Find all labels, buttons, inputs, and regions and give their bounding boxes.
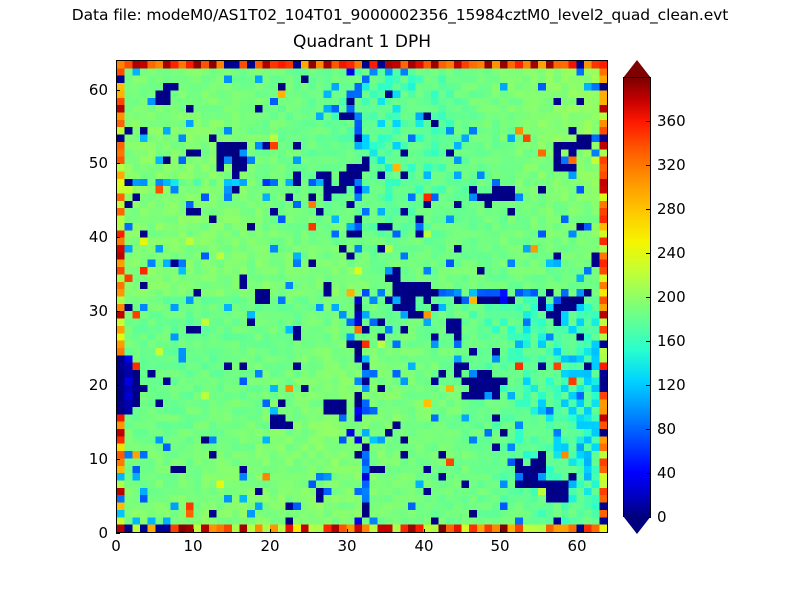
colorbar-tick-label: 240 — [657, 245, 686, 262]
colorbar-tick-mark — [646, 209, 651, 210]
colorbar-tick-mark — [646, 121, 651, 122]
colorbar-tick-mark — [646, 341, 651, 342]
colorbar-under-arrow-icon — [623, 516, 651, 534]
colorbar-tick-label: 160 — [657, 333, 686, 350]
x-tick-label: 60 — [547, 538, 607, 555]
y-tick-label: 60 — [48, 82, 108, 99]
x-tick-mark — [424, 529, 425, 533]
colorbar-over-arrow-icon — [623, 60, 651, 78]
x-tick-label: 30 — [317, 538, 377, 555]
y-tick-mark — [116, 311, 120, 312]
y-tick-label: 30 — [48, 303, 108, 320]
colorbar-tick-label: 80 — [657, 421, 676, 438]
y-tick-label: 20 — [48, 377, 108, 394]
y-tick-mark — [116, 90, 120, 91]
data-file-suptitle: Data file: modeM0/AS1T02_104T01_90000023… — [0, 6, 800, 25]
colorbar-tick-label: 200 — [657, 289, 686, 306]
colorbar-tick-mark — [646, 297, 651, 298]
page-title: Quadrant 1 DPH — [116, 31, 608, 53]
heatmap-axes[interactable] — [116, 60, 608, 533]
colorbar-tick-mark — [646, 429, 651, 430]
x-tick-mark — [577, 529, 578, 533]
x-tick-label: 40 — [394, 538, 454, 555]
y-tick-label: 40 — [48, 229, 108, 246]
colorbar-tick-label: 120 — [657, 377, 686, 394]
colorbar-tick-label: 360 — [657, 113, 686, 130]
y-tick-mark — [116, 459, 120, 460]
y-tick-mark — [116, 163, 120, 164]
y-tick-label: 50 — [48, 155, 108, 172]
x-tick-mark — [347, 529, 348, 533]
colorbar-tick-label: 0 — [657, 509, 667, 526]
colorbar-tick-label: 320 — [657, 157, 686, 174]
y-tick-label: 10 — [48, 451, 108, 468]
x-tick-mark — [500, 529, 501, 533]
y-tick-label: 0 — [48, 525, 108, 542]
x-tick-label: 50 — [470, 538, 530, 555]
colorbar-tick-mark — [646, 517, 651, 518]
colorbar-tick-mark — [646, 385, 651, 386]
y-tick-mark — [116, 385, 120, 386]
colorbar-tick-label: 40 — [657, 465, 676, 482]
colorbar-tick-mark — [646, 165, 651, 166]
x-tick-mark — [193, 529, 194, 533]
y-tick-mark — [116, 237, 120, 238]
detector-pixel-heatmap[interactable] — [117, 61, 607, 532]
x-tick-label: 20 — [240, 538, 300, 555]
colorbar-tick-label: 280 — [657, 201, 686, 218]
figure-canvas: Data file: modeM0/AS1T02_104T01_90000023… — [0, 0, 800, 600]
colorbar-tick-mark — [646, 253, 651, 254]
colorbar-tick-mark — [646, 473, 651, 474]
x-tick-mark — [270, 529, 271, 533]
y-tick-mark — [116, 533, 120, 534]
x-tick-label: 10 — [163, 538, 223, 555]
